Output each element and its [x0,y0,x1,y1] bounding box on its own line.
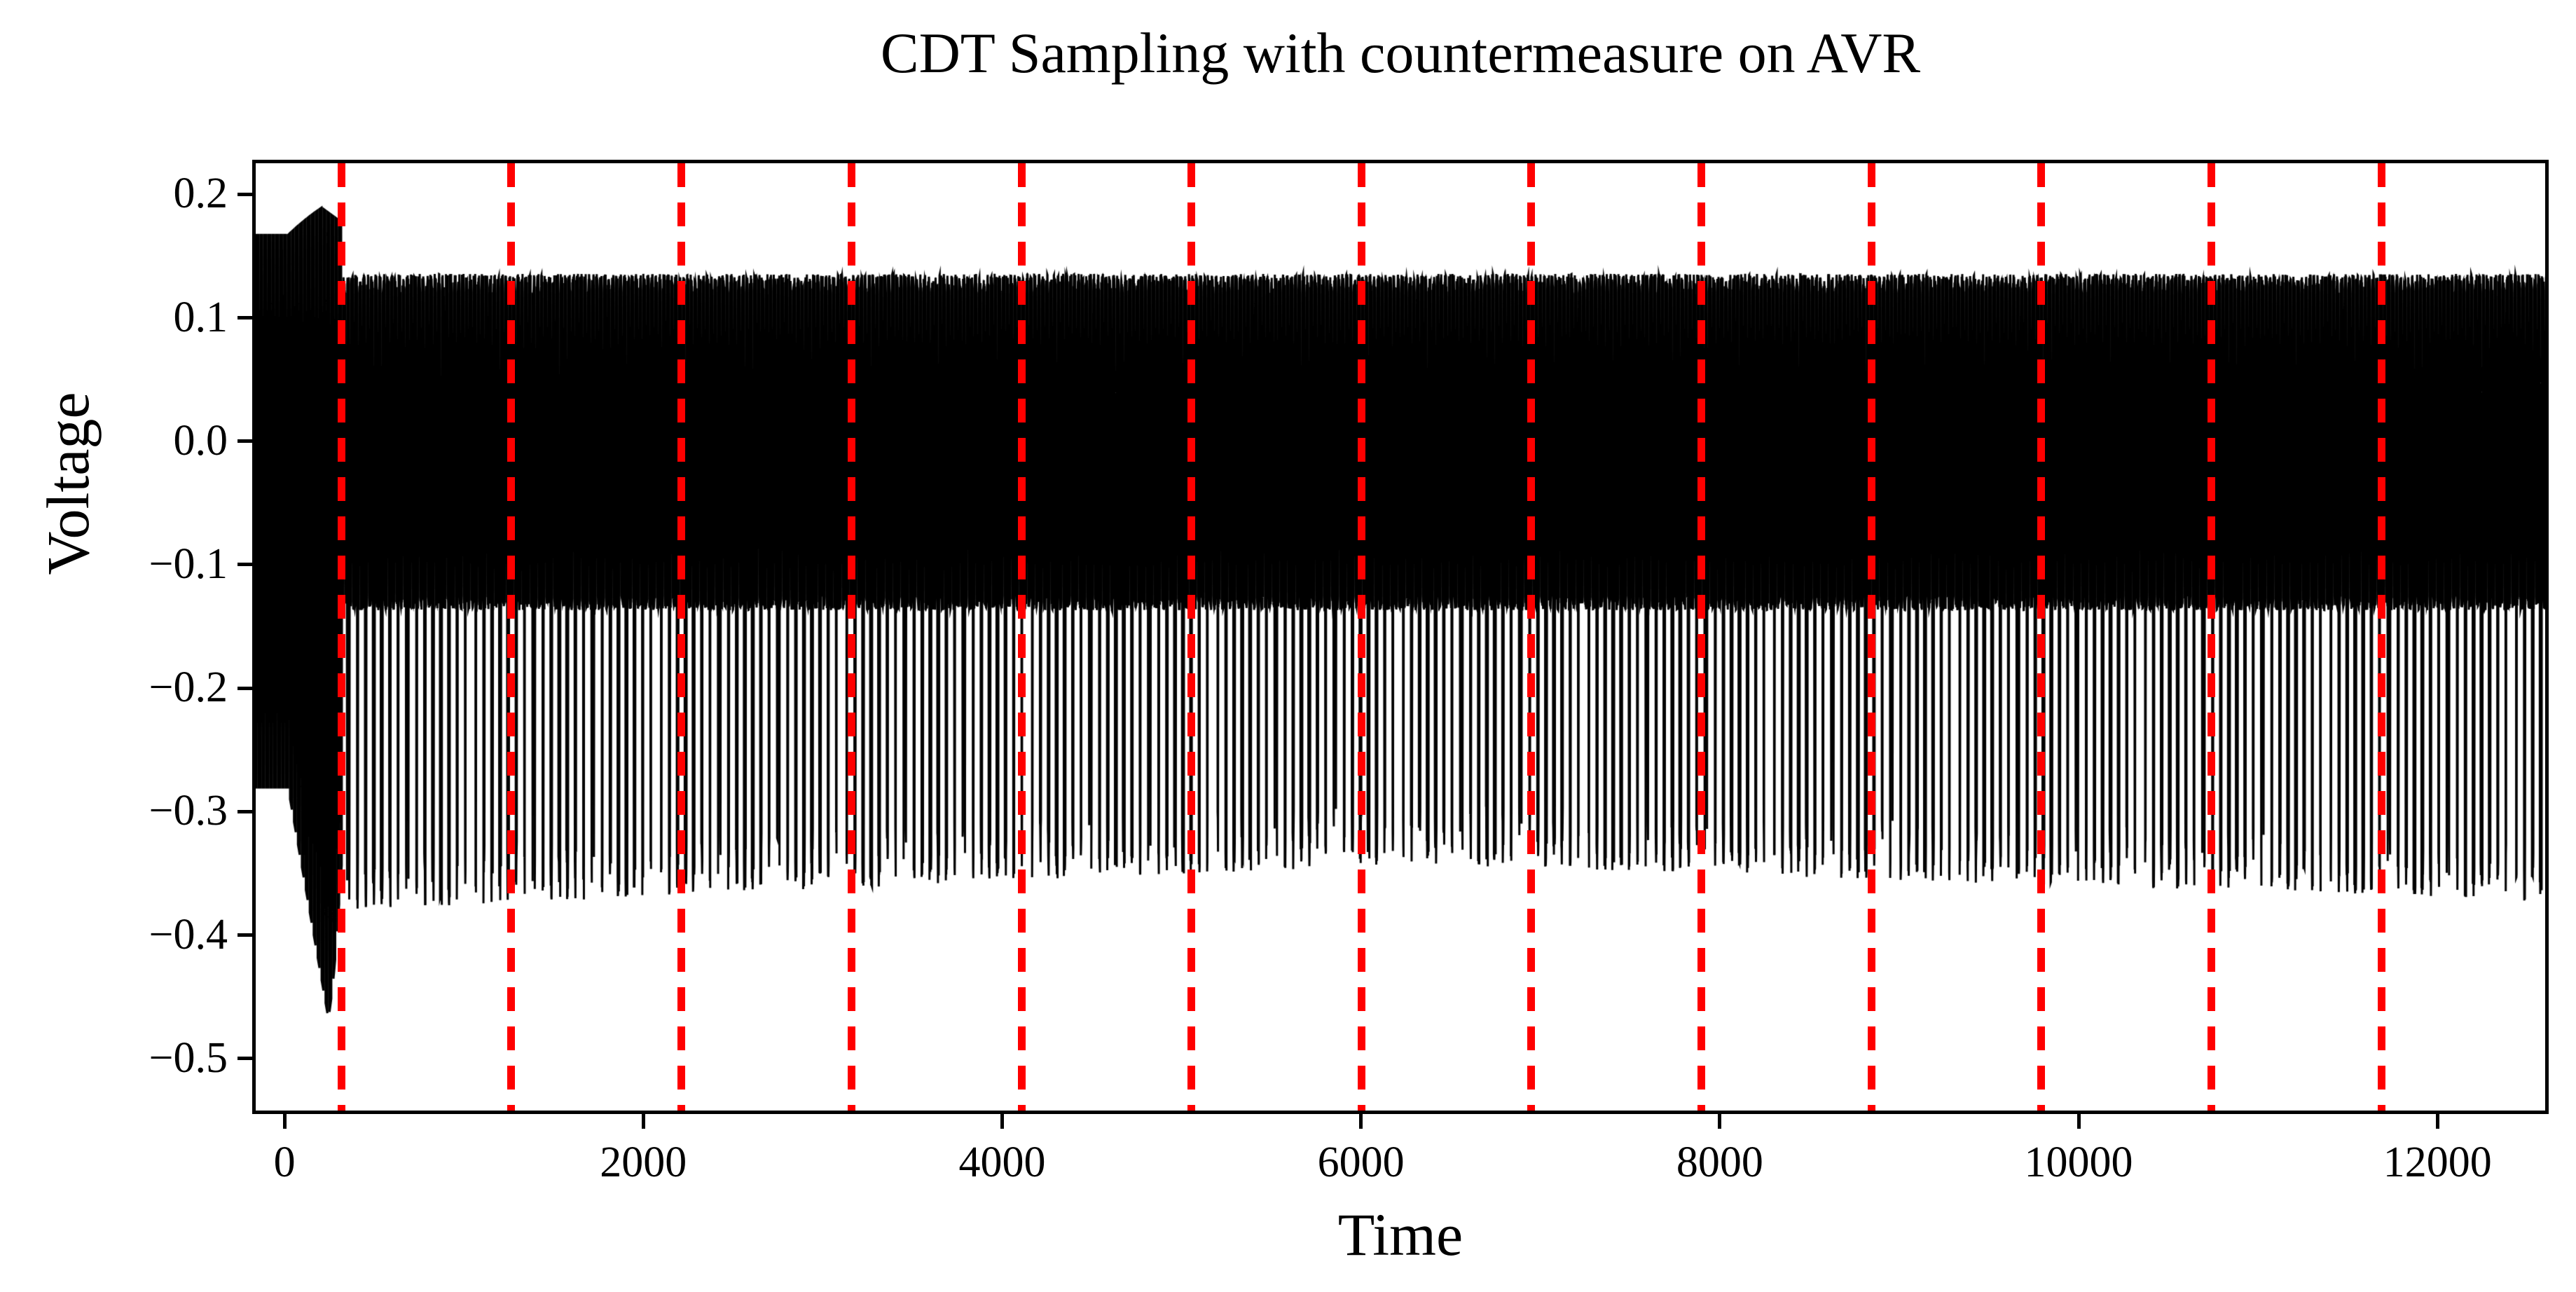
y-tick-label: 0.1 [174,296,228,339]
y-tick-mark [237,1057,252,1060]
x-tick-label: 0 [274,1141,296,1184]
y-tick-label: 0.2 [174,172,228,215]
x-tick-mark [283,1114,287,1129]
x-axis-title: Time [252,1200,2549,1270]
x-tick-label: 8000 [1676,1141,1763,1184]
x-tick-label: 6000 [1318,1141,1405,1184]
plot-area [252,160,2549,1114]
waveform-plot [256,163,2549,1114]
x-tick-mark [1000,1114,1004,1129]
y-tick-label: −0.4 [149,913,228,956]
x-tick-mark [2077,1114,2081,1129]
y-axis-title: Voltage [33,245,103,722]
x-tick-label: 2000 [600,1141,687,1184]
vertical-marker-line [2547,163,2549,1114]
x-tick-label: 4000 [958,1141,1045,1184]
figure-canvas: CDT Sampling with countermeasure on AVR … [0,0,2576,1292]
y-tick-label: −0.1 [149,542,228,586]
y-tick-mark [237,810,252,813]
y-tick-label: −0.3 [149,789,228,832]
y-tick-label: 0.0 [174,419,228,462]
x-tick-mark [1718,1114,1721,1129]
x-tick-mark [2436,1114,2439,1129]
x-tick-label: 12000 [2383,1141,2492,1184]
x-tick-mark [642,1114,645,1129]
y-tick-mark [237,439,252,443]
y-tick-mark [237,933,252,937]
y-tick-mark [237,193,252,196]
y-tick-label: −0.2 [149,666,228,709]
chart-title: CDT Sampling with countermeasure on AVR [252,20,2549,87]
x-tick-label: 10000 [2025,1141,2133,1184]
y-tick-label: −0.5 [149,1036,228,1080]
y-tick-mark [237,563,252,566]
y-tick-mark [237,687,252,690]
x-tick-mark [1359,1114,1363,1129]
y-tick-mark [237,316,252,319]
